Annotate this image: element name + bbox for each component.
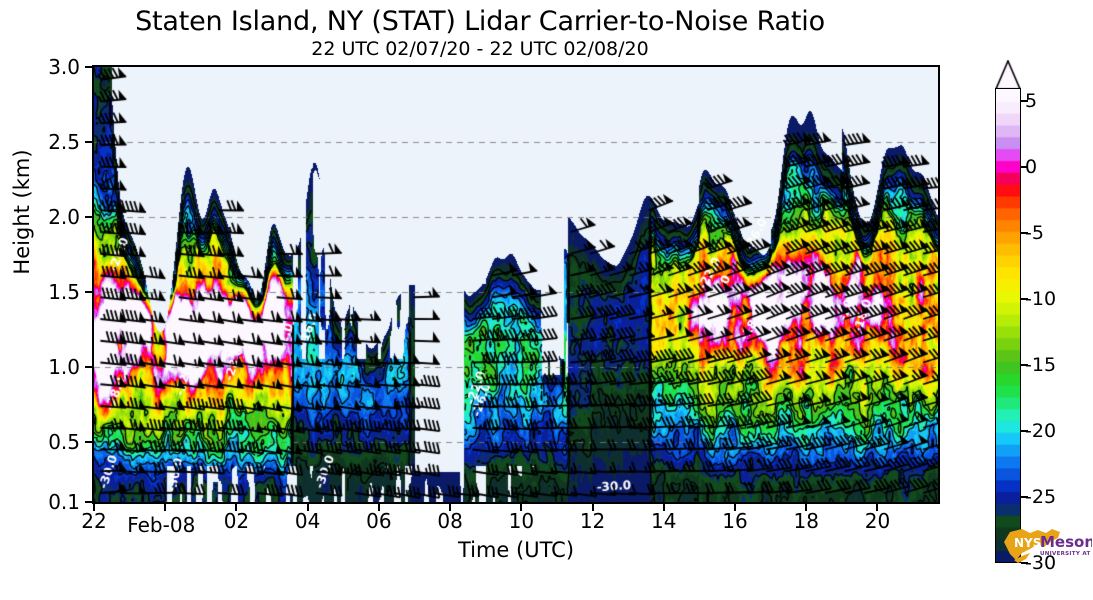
chart-subtitle: 22 UTC 02/07/20 - 22 UTC 02/08/20 [0, 38, 960, 60]
nys-mesonet-logo: NYS Mesonet UNIVERSITY AT ALBANY [1000, 520, 1092, 572]
y-tick-label: 1.0 [20, 355, 80, 379]
colorbar-tick-label: -10 [1025, 288, 1056, 310]
logo-university-text: UNIVERSITY AT ALBANY [1040, 551, 1092, 557]
y-tick-label: 0.5 [20, 430, 80, 454]
x-tick-label: 22 [81, 509, 106, 533]
y-tick-label: 3.0 [20, 55, 80, 79]
x-tick-label: 04 [295, 509, 320, 533]
x-tick-label: 10 [509, 509, 534, 533]
y-tick-label: 2.5 [20, 130, 80, 154]
colorbar-tick-label: -20 [1025, 420, 1056, 442]
y-tick-label: 2.0 [20, 205, 80, 229]
y-tick-label: 1.5 [20, 280, 80, 304]
y-tick-mark [85, 141, 92, 143]
x-tick-label: 08 [437, 509, 462, 533]
y-tick-label: 0.1 [20, 490, 80, 514]
y-tick-mark [85, 66, 92, 68]
x-axis-date-label: Feb-08 [127, 513, 195, 537]
colorbar-extend-arrow [995, 60, 1021, 90]
colorbar-tick-mark [1021, 166, 1028, 168]
x-tick-label: 16 [722, 509, 747, 533]
colorbar-bar [995, 88, 1021, 563]
colorbar-tick-mark [1021, 298, 1028, 300]
colorbar: CNR (dB) 50-5-10-15-20-25-30 [995, 58, 1093, 508]
y-tick-mark [85, 441, 92, 443]
colorbar-tick-mark [1021, 496, 1028, 498]
logo-mesonet-text: Mesonet [1040, 533, 1092, 551]
x-tick-label: 20 [865, 509, 890, 533]
colorbar-tick-mark [1021, 232, 1028, 234]
colorbar-gradient [996, 89, 1020, 562]
lidar-cnr-heatmap [94, 67, 938, 502]
colorbar-tick-mark [1021, 430, 1028, 432]
plot-area [92, 65, 940, 504]
x-tick-label: 02 [224, 509, 249, 533]
chart-title: Staten Island, NY (STAT) Lidar Carrier-t… [0, 6, 960, 37]
colorbar-tick-label: -25 [1025, 486, 1056, 508]
x-axis-label: Time (UTC) [92, 538, 940, 562]
colorbar-tick-mark [1021, 100, 1028, 102]
logo-nys-text: NYS [1014, 536, 1041, 550]
x-tick-label: 14 [651, 509, 676, 533]
y-tick-mark [85, 291, 92, 293]
y-tick-mark [85, 501, 92, 503]
x-tick-label: 06 [366, 509, 391, 533]
x-tick-mark [164, 504, 166, 511]
colorbar-tick-label: -15 [1025, 354, 1056, 376]
y-tick-mark [85, 216, 92, 218]
x-tick-label: 12 [580, 509, 605, 533]
y-tick-mark [85, 366, 92, 368]
colorbar-tick-mark [1021, 364, 1028, 366]
x-tick-label: 18 [794, 509, 819, 533]
